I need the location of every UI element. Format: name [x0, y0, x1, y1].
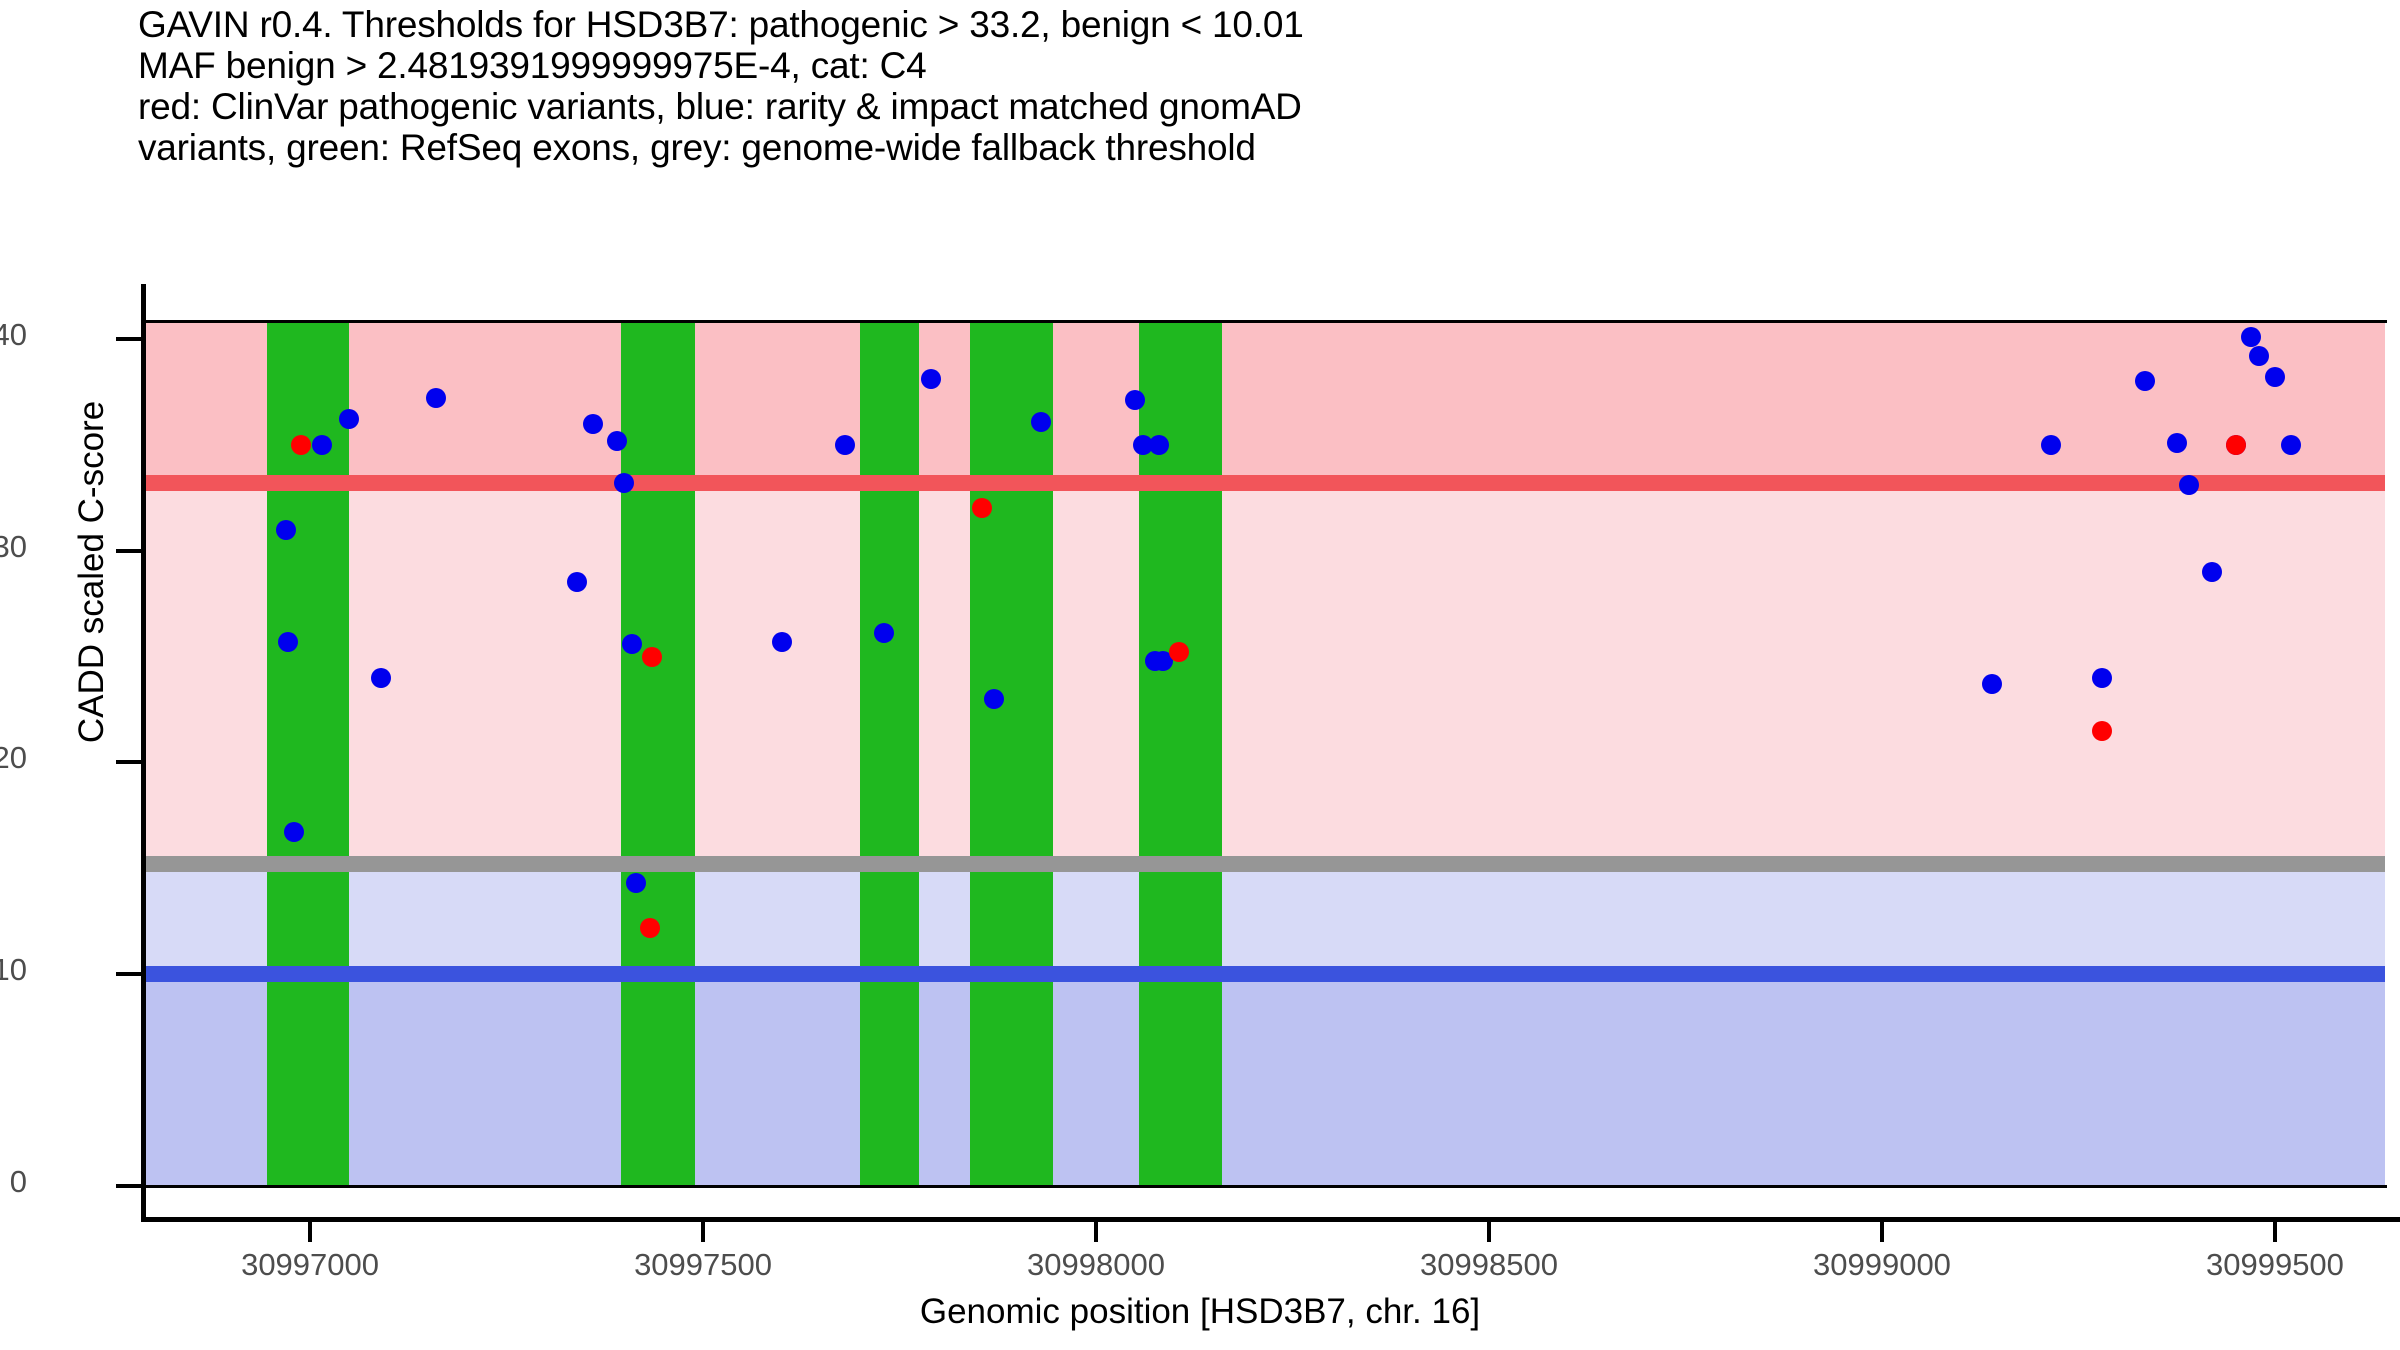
y-tick-10 [116, 972, 142, 976]
title-line-2: MAF benign > 2.4819391999999975E-4, cat:… [138, 45, 2338, 86]
y-axis-line [141, 284, 146, 1219]
x-tick-label-30998000: 30998000 [966, 1247, 1226, 1283]
y-axis-title: CADD scaled C-score [72, 222, 112, 922]
zone-pathogenic-weak [145, 483, 2385, 864]
clinvar-pathogenic-point[interactable] [2226, 435, 2246, 455]
x-axis-title: Genomic position [HSD3B7, chr. 16] [0, 1292, 2400, 1332]
zone-benign-weak [145, 864, 2385, 974]
x-tick-30999000 [1880, 1222, 1884, 1242]
gnomad-variant-point[interactable] [1149, 435, 1169, 455]
gnomad-variant-point[interactable] [276, 520, 296, 540]
x-tick-30998500 [1487, 1222, 1491, 1242]
x-tick-30998000 [1094, 1222, 1098, 1242]
x-tick-30999500 [2273, 1222, 2277, 1242]
y-tick-20 [116, 760, 142, 764]
y-tick-label-0: 0 [0, 1164, 27, 1200]
chart-root: GAVIN r0.4. Thresholds for HSD3B7: patho… [0, 0, 2400, 1350]
gnomad-variant-point[interactable] [2281, 435, 2301, 455]
exon-band-2 [621, 322, 696, 1186]
threshold-line-pathogenic [145, 475, 2385, 491]
title-line-4: variants, green: RefSeq exons, grey: gen… [138, 127, 2338, 168]
gnomad-variant-point[interactable] [772, 632, 792, 652]
gnomad-variant-point[interactable] [1982, 674, 2002, 694]
x-tick-label-30999000: 30999000 [1752, 1247, 2012, 1283]
y-tick-label-30: 30 [0, 529, 27, 565]
chart-title-block: GAVIN r0.4. Thresholds for HSD3B7: patho… [138, 4, 2338, 168]
zone-benign-strong [145, 974, 2385, 1186]
plot-top-border [145, 320, 2387, 323]
gnomad-variant-point[interactable] [2202, 562, 2222, 582]
x-tick-label-30998500: 30998500 [1359, 1247, 1619, 1283]
gnomad-variant-point[interactable] [583, 414, 603, 434]
gnomad-variant-point[interactable] [921, 369, 941, 389]
x-tick-label-30997500: 30997500 [573, 1247, 833, 1283]
x-tick-label-30999500: 30999500 [2145, 1247, 2400, 1283]
clinvar-pathogenic-point[interactable] [642, 647, 662, 667]
gnomad-variant-point[interactable] [426, 388, 446, 408]
plot-bottom-border [145, 1185, 2387, 1188]
clinvar-pathogenic-point[interactable] [2092, 721, 2112, 741]
threshold-line-benign [145, 966, 2385, 982]
gnomad-variant-point[interactable] [874, 623, 894, 643]
gnomad-variant-point[interactable] [607, 431, 627, 451]
gnomad-variant-point[interactable] [2249, 346, 2269, 366]
y-tick-40 [116, 337, 142, 341]
exon-band-4 [970, 322, 1053, 1186]
y-tick-0 [116, 1184, 142, 1188]
gnomad-variant-point[interactable] [984, 689, 1004, 709]
clinvar-pathogenic-point[interactable] [291, 435, 311, 455]
title-line-1: GAVIN r0.4. Thresholds for HSD3B7: patho… [138, 4, 2338, 45]
y-tick-30 [116, 549, 142, 553]
y-tick-label-20: 20 [0, 740, 27, 776]
x-tick-30997000 [308, 1222, 312, 1242]
gnomad-variant-point[interactable] [2179, 475, 2199, 495]
gnomad-variant-point[interactable] [2092, 668, 2112, 688]
clinvar-pathogenic-point[interactable] [1169, 642, 1189, 662]
exon-band-3 [860, 322, 919, 1186]
y-tick-label-40: 40 [0, 317, 27, 353]
gnomad-variant-point[interactable] [2265, 367, 2285, 387]
x-tick-label-30997000: 30997000 [180, 1247, 440, 1283]
title-line-3: red: ClinVar pathogenic variants, blue: … [138, 86, 2338, 127]
gnomad-variant-point[interactable] [312, 435, 332, 455]
clinvar-pathogenic-point[interactable] [640, 918, 660, 938]
gnomad-variant-point[interactable] [835, 435, 855, 455]
gnomad-variant-point[interactable] [1031, 412, 1051, 432]
gnomad-variant-point[interactable] [371, 668, 391, 688]
gnomad-variant-point[interactable] [2167, 433, 2187, 453]
x-axis-line [141, 1217, 2400, 1222]
gnomad-variant-point[interactable] [2041, 435, 2061, 455]
y-tick-label-10: 10 [0, 952, 27, 988]
threshold-line-fallback [145, 856, 2385, 872]
zone-pathogenic-strong [145, 322, 2385, 483]
x-tick-30997500 [701, 1222, 705, 1242]
gnomad-variant-point[interactable] [278, 632, 298, 652]
plot-area [145, 322, 2385, 1186]
